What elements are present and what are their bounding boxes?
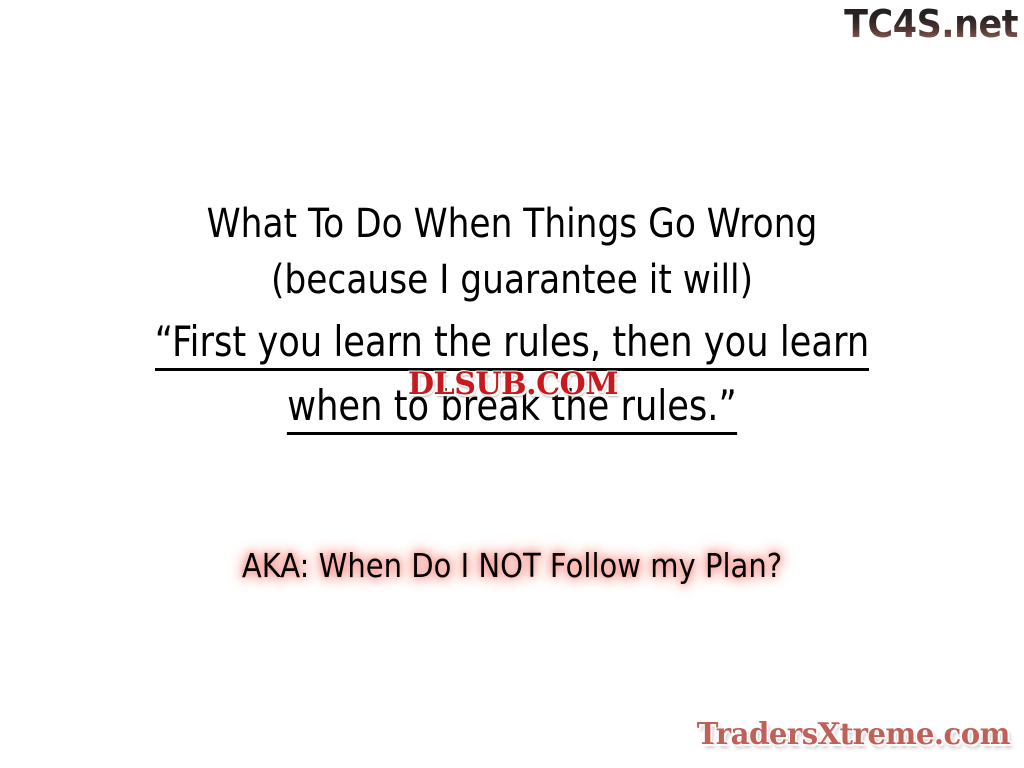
aka-subtitle: AKA: When Do I NOT Follow my Plan? (0, 543, 1024, 589)
quote-block: “First you learn the rules, then you lea… (0, 310, 1024, 438)
slide-canvas: TC4S.net What To Do When Things Go Wrong… (0, 0, 1024, 768)
title-line-1: What To Do When Things Go Wrong (72, 196, 953, 252)
quote-line-1: “First you learn the rules, then you lea… (82, 310, 942, 374)
brand-logo-tc4s: TC4S.net (844, 2, 1018, 46)
aka-subtitle-text: AKA: When Do I NOT Follow my Plan? (242, 543, 782, 589)
quote-line-2-text: when to break the rules.” (287, 381, 737, 435)
brand-logo-tradersxtreme: TradersXtreme.com (697, 716, 1010, 754)
quote-line-2: when to break the rules.” (82, 374, 942, 438)
slide-text-block: What To Do When Things Go Wrong (because… (0, 196, 1024, 438)
title-line-2: (because I guarantee it will) (72, 252, 953, 308)
quote-line-1-text: “First you learn the rules, then you lea… (155, 317, 869, 371)
